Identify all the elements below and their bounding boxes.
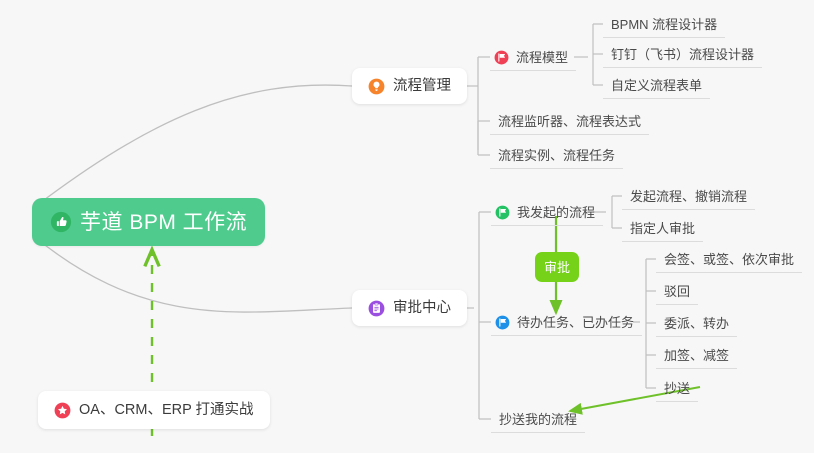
node-label: 抄送 [664,382,690,395]
floating-node-label: OA、CRM、ERP 打通实战 [79,403,254,418]
flag-icon-red [494,50,509,65]
node-countersign-or-sequential[interactable]: 会签、或签、依次审批 [656,246,802,273]
node-label: 流程模型 [516,51,568,64]
branch-node-process-management[interactable]: 流程管理 [352,68,467,104]
node-label: 待办任务、已办任务 [517,316,634,329]
thumbs-up-icon [50,211,72,233]
node-todo-done-tasks[interactable]: 待办任务、已办任务 [491,309,642,336]
node-carbon-copy[interactable]: 抄送 [656,375,698,402]
node-label: 流程实例、流程任务 [498,149,615,162]
flag-icon-green [495,205,510,220]
node-label: 钉钉（飞书）流程设计器 [611,48,754,61]
connector-root-to-process-mgmt [36,85,352,206]
node-label: 驳回 [664,285,690,298]
node-label: 发起流程、撤销流程 [630,190,747,203]
node-label: 自定义流程表单 [611,79,702,92]
node-label: 指定人审批 [630,222,695,235]
star-icon [54,402,71,419]
node-label: 流程监听器、流程表达式 [498,115,641,128]
annotation-badge-approval: 审批 [535,252,579,282]
clipboard-icon [368,300,385,317]
node-dingtalk-feishu-designer[interactable]: 钉钉（飞书）流程设计器 [603,41,762,68]
branch-node-label: 审批中心 [393,301,451,316]
node-label: 委派、转办 [664,317,729,330]
node-label: 加签、减签 [664,349,729,362]
node-start-cancel-process[interactable]: 发起流程、撤销流程 [622,183,755,210]
branch-node-label: 流程管理 [393,79,451,94]
node-label: 会签、或签、依次审批 [664,253,794,266]
root-node-label: 芋道 BPM 工作流 [80,212,247,233]
mindmap-canvas: 芋道 BPM 工作流 流程管理 流程模型 BPMN 流程设计器 钉钉（飞书）流程 [0,0,814,453]
node-custom-process-form[interactable]: 自定义流程表单 [603,72,710,99]
node-label: BPMN 流程设计器 [611,18,717,31]
node-delegate-transfer[interactable]: 委派、转办 [656,310,737,337]
node-label: 我发起的流程 [517,206,595,219]
node-assignee-approval[interactable]: 指定人审批 [622,215,703,242]
annotation-badge-label: 审批 [544,261,570,274]
node-bpmn-designer[interactable]: BPMN 流程设计器 [603,11,725,38]
node-my-started-processes[interactable]: 我发起的流程 [491,199,603,226]
lightbulb-icon [368,78,385,95]
node-cc-to-me-processes[interactable]: 抄送我的流程 [491,406,585,433]
node-label: 抄送我的流程 [499,413,577,426]
root-node[interactable]: 芋道 BPM 工作流 [32,198,265,246]
node-reject[interactable]: 驳回 [656,278,698,305]
flag-icon-blue [495,315,510,330]
node-process-instance-task[interactable]: 流程实例、流程任务 [490,142,623,169]
node-process-model[interactable]: 流程模型 [490,44,576,71]
node-add-remove-sign[interactable]: 加签、减签 [656,342,737,369]
floating-node-integration[interactable]: OA、CRM、ERP 打通实战 [38,391,270,429]
branch-node-approval-center[interactable]: 审批中心 [352,290,467,326]
connector-root-to-approval-center [36,238,352,312]
node-process-listener-expression[interactable]: 流程监听器、流程表达式 [490,108,649,135]
